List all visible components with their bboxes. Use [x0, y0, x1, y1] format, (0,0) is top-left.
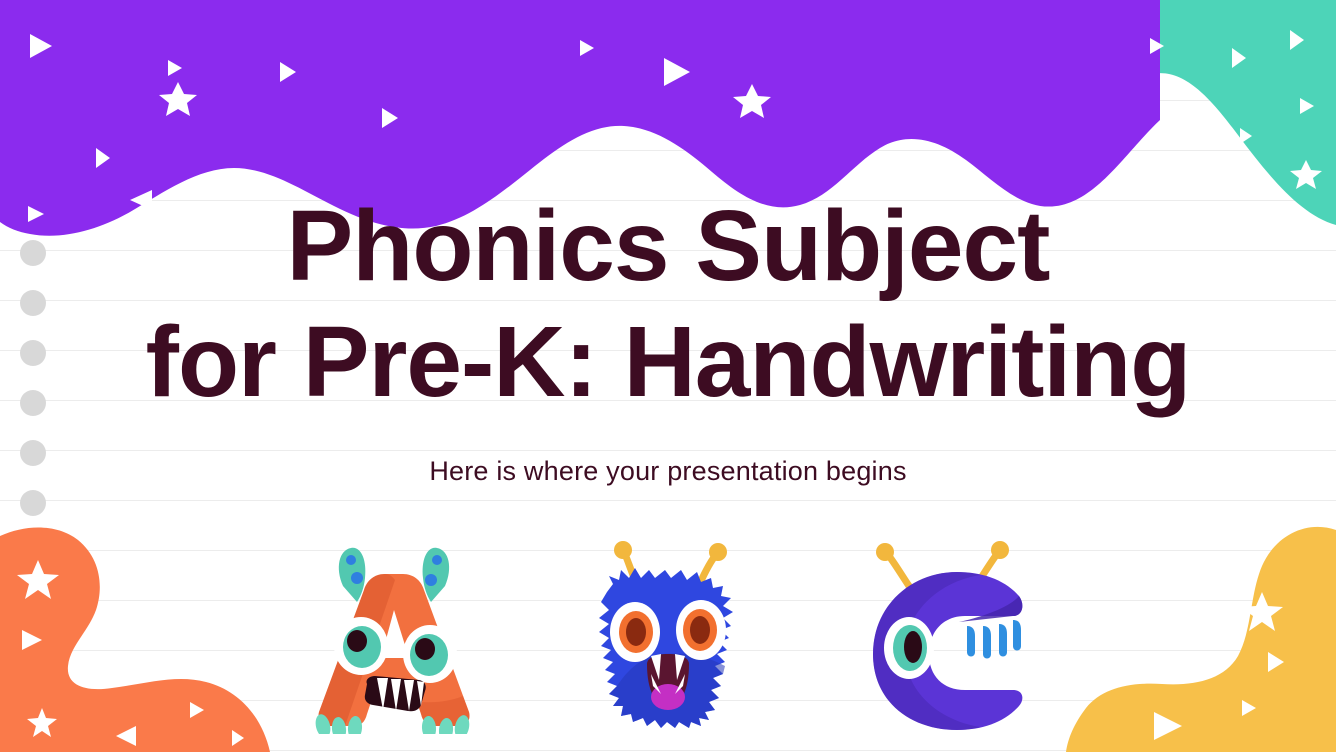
binding-hole: [20, 440, 46, 466]
monster-letters-row: A: [0, 524, 1336, 734]
antenna-left-tip-icon: [614, 541, 632, 559]
horn-spot-icon: [425, 574, 437, 586]
slide-text-content: Phonics Subject for Pre-K: Handwriting H…: [0, 196, 1336, 487]
antenna-left-tip-icon: [876, 543, 894, 561]
antenna-right-tip-icon: [991, 541, 1009, 559]
binding-hole: [20, 340, 46, 366]
binding-hole: [20, 390, 46, 416]
monster-letter-b: B: [573, 534, 763, 734]
eye-pupil: [904, 631, 922, 663]
teeth-shape: [967, 626, 975, 657]
eye-left-pupil: [347, 630, 367, 652]
eye-right-pupil: [690, 616, 710, 644]
monster-letter-a: A: [299, 534, 489, 734]
monster-letter-c: C: [847, 534, 1037, 734]
horn-spot-icon: [351, 572, 363, 584]
title-line-2: for Pre-K: Handwriting: [110, 312, 1226, 412]
title-line-1: Phonics Subject: [287, 190, 1050, 302]
binding-hole: [20, 240, 46, 266]
horn-spot-icon: [346, 555, 356, 565]
slide-subtitle: Here is where your presentation begins: [0, 456, 1336, 487]
presentation-slide: Phonics Subject for Pre-K: Handwriting H…: [0, 0, 1336, 752]
teeth-shape: [1013, 620, 1021, 651]
horn-spot-icon: [432, 555, 442, 565]
binding-hole: [20, 490, 46, 516]
eye-right-pupil: [415, 638, 435, 660]
binding-hole: [20, 290, 46, 316]
page-title: Phonics Subject for Pre-K: Handwriting: [0, 196, 1336, 412]
spiral-binding-holes: [0, 0, 70, 752]
antenna-left-icon: [889, 556, 909, 586]
eye-left-pupil: [626, 618, 646, 646]
teeth-shape: [999, 624, 1007, 657]
antenna-right-tip-icon: [709, 543, 727, 561]
teeth-shape: [983, 626, 991, 659]
